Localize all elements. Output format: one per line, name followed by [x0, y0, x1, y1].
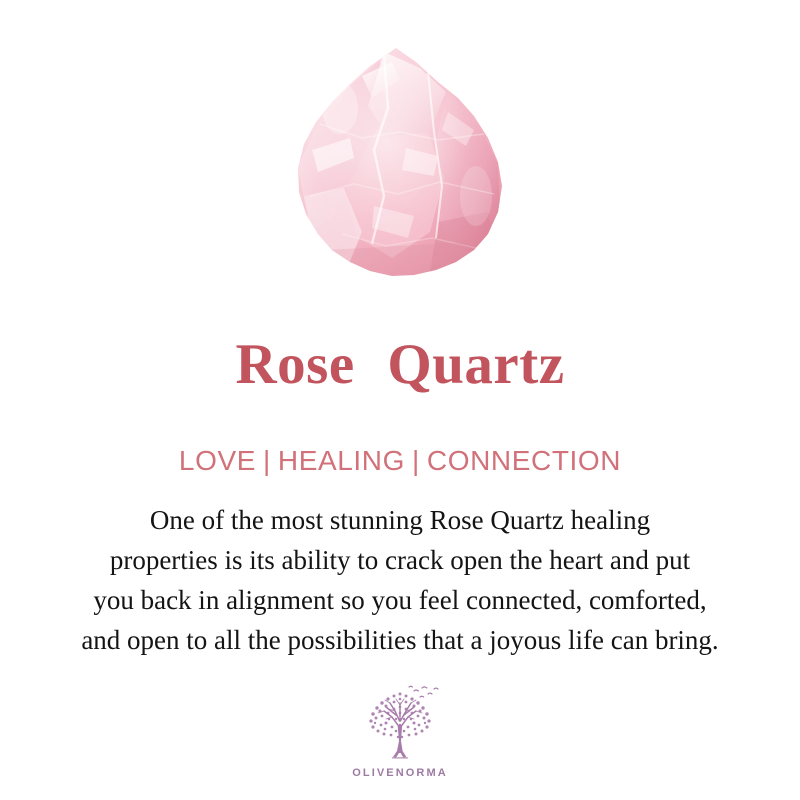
keyword-separator-1: | [256, 445, 278, 476]
description-line: you back in alignment so you feel connec… [0, 580, 800, 620]
keyword-tagline: LOVE|HEALING|CONNECTION [0, 444, 800, 478]
keyword-healing: HEALING [278, 445, 405, 476]
rose-quartz-crystal-image [288, 46, 512, 284]
tree-of-life-icon [352, 683, 448, 763]
description-line: and open to all the possibilities that a… [0, 620, 800, 660]
description-text: One of the most stunning Rose Quartz hea… [0, 500, 800, 660]
product-info-card: Rose Quartz LOVE|HEALING|CONNECTION One … [0, 0, 800, 800]
hero-image-container [0, 0, 800, 300]
brand-logo: OLIVENORMA [0, 683, 800, 779]
keyword-separator-2: | [405, 445, 427, 476]
description-line: One of the most stunning Rose Quartz hea… [0, 500, 800, 540]
description-line: properties is its ability to crack open … [0, 540, 800, 580]
page-title: Rose Quartz [0, 333, 800, 397]
keyword-love: LOVE [179, 445, 256, 476]
keyword-connection: CONNECTION [427, 445, 621, 476]
brand-wordmark: OLIVENORMA [352, 767, 448, 779]
birds-icon [409, 686, 438, 697]
